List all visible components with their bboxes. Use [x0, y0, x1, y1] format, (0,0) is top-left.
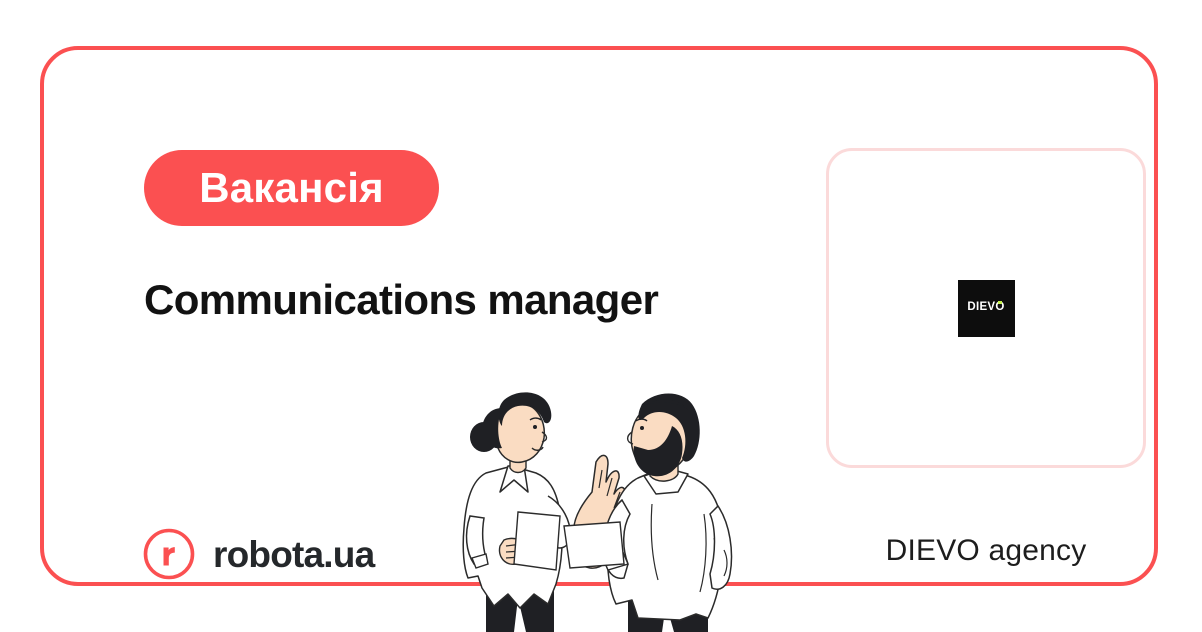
- company-name: DIEVO agency: [826, 534, 1146, 567]
- job-title: Communications manager: [144, 276, 764, 324]
- robota-ua-wordmark: robota.ua: [213, 536, 374, 573]
- vacancy-badge-label: Вакансія: [199, 167, 384, 209]
- vacancy-badge: Вакансія: [144, 150, 439, 226]
- company-logo-accent-dot: [998, 301, 1002, 305]
- robota-circle-r-icon: [143, 528, 195, 580]
- company-logo-frame: DIEVO: [826, 148, 1146, 468]
- company-logo-tile: DIEVO: [958, 280, 1015, 337]
- man-trousers: [628, 594, 708, 632]
- woman-trousers: [486, 584, 554, 632]
- robota-ua-logo[interactable]: robota.ua: [143, 528, 374, 580]
- poster-canvas: Вакансія Communications manager robota.u…: [0, 0, 1202, 632]
- vacancy-card: Вакансія Communications manager robota.u…: [40, 46, 1158, 586]
